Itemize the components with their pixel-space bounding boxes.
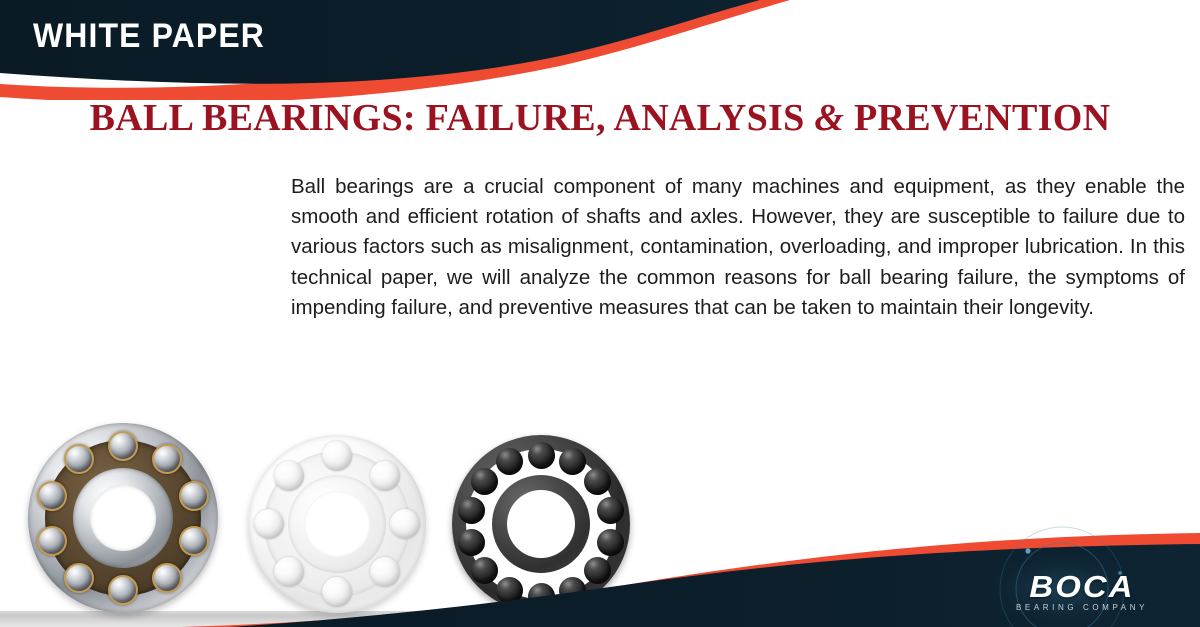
steel-chrome-bearing (28, 423, 218, 613)
steel-ball (108, 431, 138, 461)
bearing-illustration-group (0, 427, 700, 627)
white-ball (274, 557, 304, 587)
black-ball (496, 448, 523, 475)
steel-ball (152, 563, 182, 593)
white-ball (370, 461, 400, 491)
black-ball (471, 468, 498, 495)
header-banner: WHITE PAPER (0, 0, 1200, 100)
black-ball (559, 448, 586, 475)
white-paper-page: WHITE PAPER BALL BEARINGS: FAILURE, ANAL… (0, 0, 1200, 627)
steel-ball (152, 444, 182, 474)
white-ball (322, 441, 352, 471)
intro-paragraph: Ball bearings are a crucial component of… (291, 172, 1185, 323)
page-title-ampersand: & (814, 97, 844, 139)
steel-ball (64, 444, 94, 474)
black-ball (496, 577, 523, 604)
black-ceramic-bearing (452, 435, 630, 613)
black-ball (458, 497, 485, 524)
black-ball (597, 497, 624, 524)
boca-logo: BOCA BEARING COMPANY (994, 571, 1170, 619)
white-ball (322, 577, 352, 607)
logo-glow-graphic (976, 527, 1148, 627)
black-ball (584, 468, 611, 495)
boca-logo-tagline: BEARING COMPANY (994, 602, 1170, 613)
page-title: BALL BEARINGS: FAILURE, ANALYSIS & PREVE… (0, 96, 1200, 140)
boca-logo-wordmark: BOCA (989, 571, 1176, 603)
steel-ball (37, 481, 67, 511)
steel-ball (179, 526, 209, 556)
page-title-part1: BALL BEARINGS: FAILURE, ANALYSIS (90, 97, 815, 139)
steel-ball (37, 526, 67, 556)
black-ball (528, 442, 555, 469)
black-ball (597, 529, 624, 556)
black-bearing-bore (507, 490, 575, 558)
black-ball (471, 557, 498, 584)
white-ball (370, 557, 400, 587)
black-ball (528, 583, 555, 610)
white-ceramic-bearing (248, 435, 426, 613)
steel-ball (64, 563, 94, 593)
black-ball (584, 557, 611, 584)
white-paper-label: WHITE PAPER (33, 15, 265, 57)
steel-ball (108, 575, 138, 605)
white-ball (390, 509, 420, 539)
black-ball (458, 529, 485, 556)
steel-ball (179, 481, 209, 511)
steel-bearing-bore (90, 485, 156, 551)
white-bearing-bore (304, 491, 370, 557)
illustration-ground-surface (0, 611, 700, 627)
white-ball (254, 509, 284, 539)
white-ball (274, 461, 304, 491)
black-ball (559, 577, 586, 604)
page-title-part2: PREVENTION (844, 97, 1110, 139)
